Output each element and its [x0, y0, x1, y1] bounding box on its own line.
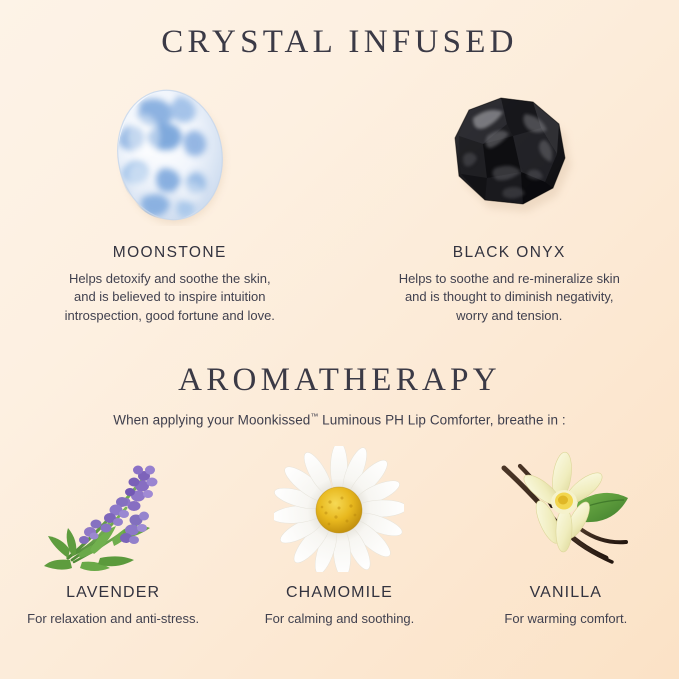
aromatherapy-items-row: LAVENDER For relaxation and anti-stress. [0, 442, 679, 626]
item-name: MOONSTONE [113, 244, 227, 262]
aroma-item-chamomile: CHAMOMILE For calming and soothing. [226, 442, 452, 626]
chamomile-daisy-icon [274, 442, 404, 572]
aroma-item-name: VANILLA [530, 584, 602, 602]
aromatherapy-section-title: AROMATHERAPY [0, 364, 679, 397]
crystal-item-moonstone: MOONSTONE Helps detoxify and soothe the … [0, 80, 340, 325]
aroma-item-description: For calming and soothing. [265, 611, 415, 626]
intro-suffix: Luminous PH Lip Comforter, breathe in : [318, 413, 565, 428]
infographic-page: CRYSTAL INFUSED [0, 0, 679, 679]
crystal-item-black-onyx: BLACK ONYX Helps to soothe and re-minera… [340, 80, 679, 325]
item-description: Helps detoxify and soothe the skin, and … [65, 270, 275, 325]
aroma-item-vanilla: VANILLA For warming comfort. [453, 442, 679, 626]
crystal-section-title: CRYSTAL INFUSED [0, 26, 679, 59]
black-onyx-gem-icon [429, 80, 589, 230]
crystal-items-row: MOONSTONE Helps detoxify and soothe the … [0, 80, 679, 325]
item-description: Helps to soothe and re-mineralize skin a… [399, 270, 620, 325]
aroma-item-name: CHAMOMILE [286, 584, 393, 602]
aroma-item-lavender: LAVENDER For relaxation and anti-stress. [0, 442, 226, 626]
lavender-sprig-icon [38, 442, 188, 572]
aromatherapy-intro-text: When applying your Moonkissed™ Luminous … [0, 412, 679, 428]
vanilla-orchid-icon [486, 442, 646, 572]
moonstone-gem-icon [94, 80, 246, 230]
aroma-item-description: For relaxation and anti-stress. [27, 611, 199, 626]
aroma-item-description: For warming comfort. [504, 611, 627, 626]
intro-prefix: When applying your Moonkissed [113, 413, 310, 428]
aroma-item-name: LAVENDER [66, 584, 160, 602]
item-name: BLACK ONYX [453, 244, 566, 262]
